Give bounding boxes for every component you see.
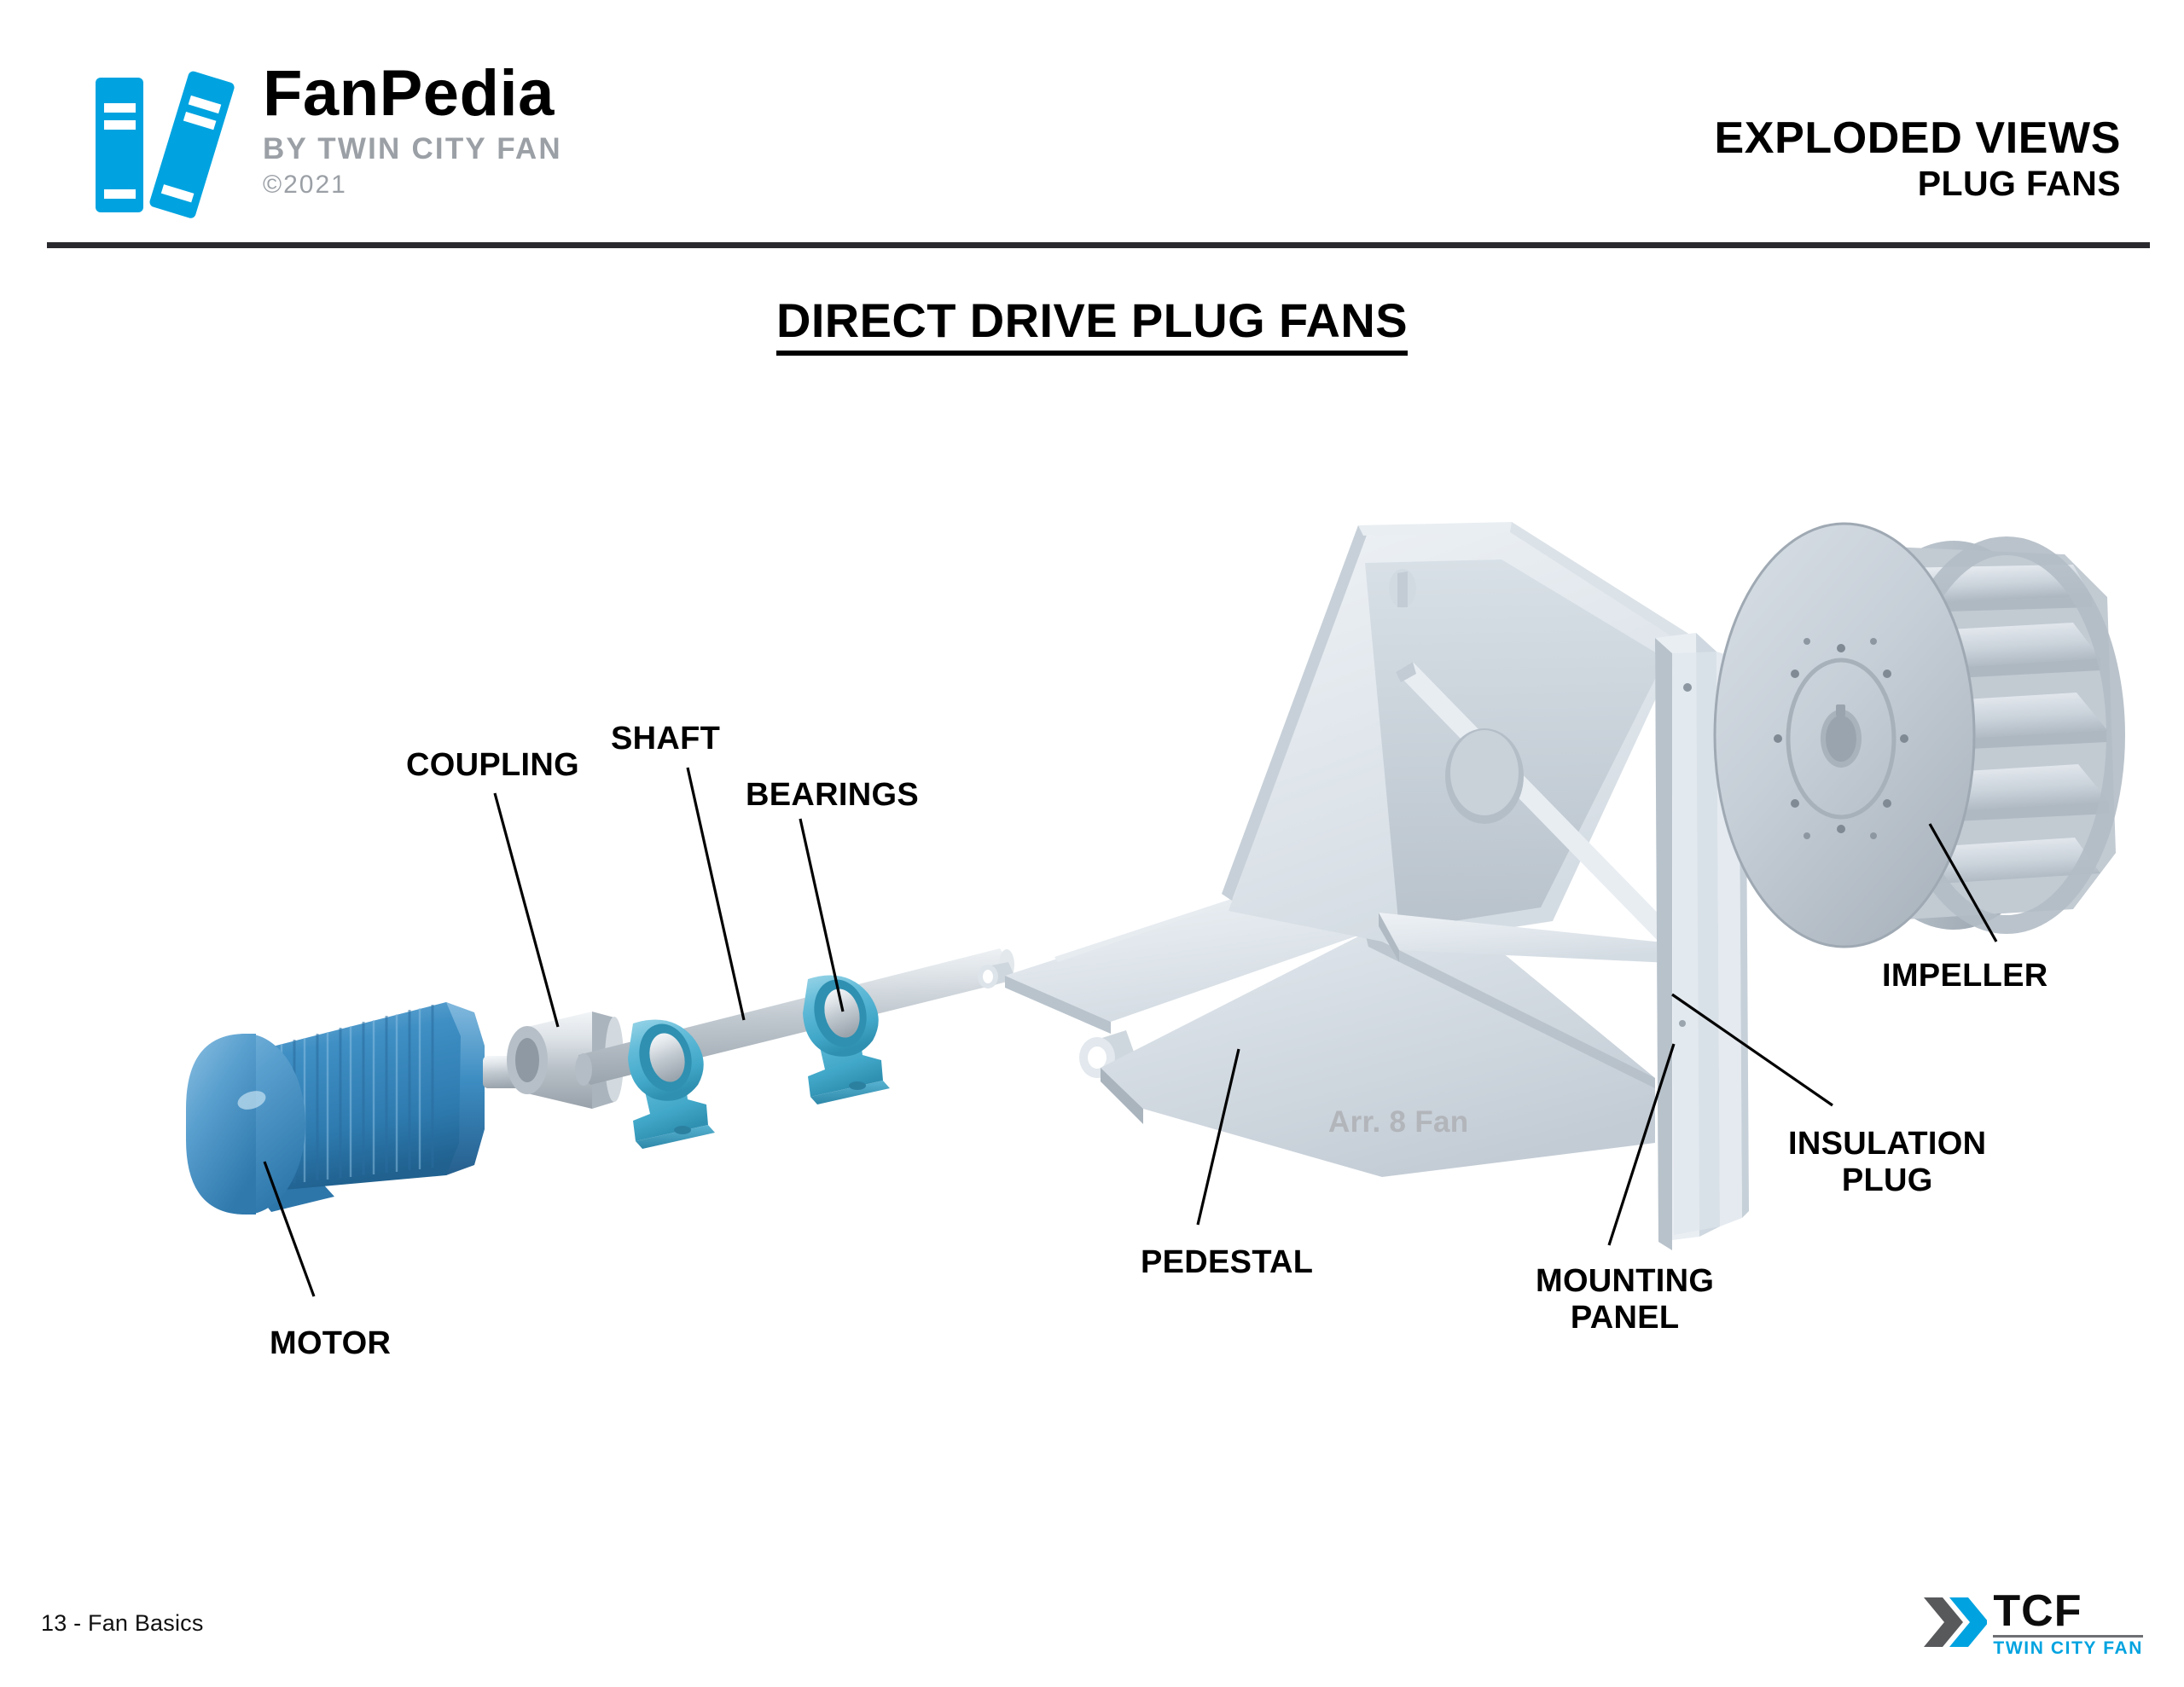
component-coupling bbox=[507, 1012, 624, 1109]
slide-title: DIRECT DRIVE PLUG FANS bbox=[0, 296, 2184, 356]
callout-coupling: COUPLING bbox=[406, 747, 579, 784]
double-chevron-icon-svg bbox=[1920, 1594, 1987, 1650]
component-shaft bbox=[575, 948, 1014, 1086]
callout-bearings: BEARINGS bbox=[746, 777, 919, 814]
header-divider bbox=[47, 242, 2150, 248]
header-title-block: EXPLODED VIEWS PLUG FANS bbox=[1715, 115, 2121, 204]
callout-shaft: SHAFT bbox=[611, 721, 720, 757]
leader-shaft bbox=[688, 768, 744, 1020]
leader-mounting-panel bbox=[1609, 1044, 1674, 1245]
callout-insulation-plug: INSULATION PLUG bbox=[1788, 1126, 1986, 1198]
diagram-note-arr8: Arr. 8 Fan bbox=[1328, 1105, 1468, 1139]
brand-copyright: ©2021 bbox=[263, 172, 562, 198]
callout-mounting-panel: MOUNTING PANEL bbox=[1536, 1263, 1714, 1336]
page-header: FanPedia BY TWIN CITY FAN ©2021 EXPLODED… bbox=[0, 0, 2184, 247]
component-pedestal bbox=[978, 887, 1655, 1177]
exploded-view-diagram bbox=[0, 0, 2184, 1687]
leader-bearings bbox=[800, 819, 843, 1012]
component-insulation-plug bbox=[1716, 652, 1749, 1226]
component-motor bbox=[186, 1002, 532, 1215]
leader-impeller bbox=[1930, 824, 1996, 942]
leader-motor-line bbox=[264, 1162, 314, 1296]
leader-lines bbox=[264, 768, 1996, 1307]
books-icon bbox=[82, 67, 239, 222]
brand-name: FanPedia bbox=[263, 61, 562, 126]
brand-tagline: BY TWIN CITY FAN bbox=[263, 134, 562, 164]
component-bearing-2 bbox=[803, 974, 890, 1104]
diagram-svg bbox=[0, 0, 2184, 1687]
double-chevron-icon bbox=[1920, 1594, 1987, 1655]
component-mounting-panel bbox=[1222, 522, 1720, 1250]
tcf-initials: TCF bbox=[1993, 1591, 2143, 1632]
component-bearing-1 bbox=[628, 1018, 715, 1149]
tcf-divider bbox=[1993, 1635, 2143, 1638]
leader-insulation-plug bbox=[1672, 994, 1833, 1105]
fanpedia-logo: FanPedia BY TWIN CITY FAN ©2021 bbox=[82, 67, 562, 222]
leader-pedestal bbox=[1198, 1049, 1239, 1225]
tcf-logo: TCF TWIN CITY FAN bbox=[1920, 1588, 2143, 1660]
tcf-wordmark: TCF TWIN CITY FAN bbox=[1993, 1591, 2143, 1657]
header-title-sub: PLUG FANS bbox=[1715, 165, 2121, 204]
brand-text-block: FanPedia BY TWIN CITY FAN ©2021 bbox=[263, 61, 562, 198]
books-icon-svg bbox=[82, 67, 239, 222]
footer-page-label: 13 - Fan Basics bbox=[41, 1610, 204, 1637]
callout-motor: MOTOR bbox=[270, 1325, 391, 1362]
header-title-main: EXPLODED VIEWS bbox=[1715, 115, 2121, 161]
callout-pedestal: PEDESTAL bbox=[1141, 1244, 1313, 1281]
component-impeller bbox=[1715, 524, 2116, 947]
callout-impeller: IMPELLER bbox=[1882, 958, 2048, 994]
tcf-subtitle: TWIN CITY FAN bbox=[1993, 1639, 2143, 1657]
slide-title-text: DIRECT DRIVE PLUG FANS bbox=[776, 296, 1408, 356]
leader-coupling bbox=[495, 793, 558, 1027]
